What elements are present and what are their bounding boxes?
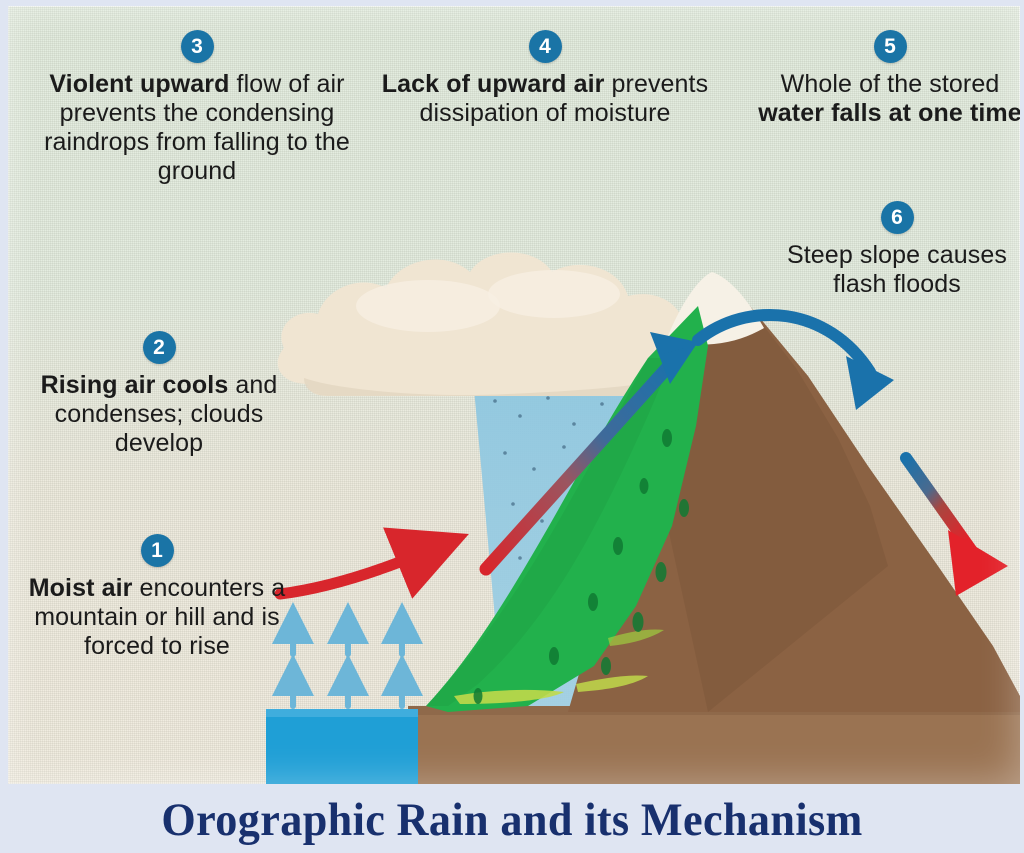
step-3-bold: Violent upward xyxy=(49,70,229,98)
step-1-text: Moist air encounters a mountain or hill … xyxy=(26,574,288,661)
step-5-note: 5 Whole of the stored water falls at one… xyxy=(746,30,1020,128)
step-3-badge: 3 xyxy=(181,30,214,63)
water-body xyxy=(266,709,418,784)
step-4-bold: Lack of upward air xyxy=(382,70,605,98)
ground-base xyxy=(408,706,1020,784)
step-3-text: Violent upward flow of air prevents the … xyxy=(32,70,362,186)
step-5-badge: 5 xyxy=(874,30,907,63)
infographic-root: 1 Moist air encounters a mountain or hil… xyxy=(0,0,1024,853)
step-4-note: 4 Lack of upward air prevents dissipatio… xyxy=(380,30,710,128)
step-2-note: 2 Rising air cools and condenses; clouds… xyxy=(16,331,302,458)
step-6-rest: Steep slope causes flash floods xyxy=(787,241,1007,298)
step-5-text: Whole of the stored water falls at one t… xyxy=(746,70,1020,128)
step-2-bold: Rising air cools xyxy=(41,371,229,399)
step-2-badge: 2 xyxy=(143,331,176,364)
step-1-bold: Moist air xyxy=(29,574,133,602)
step-6-badge: 6 xyxy=(881,201,914,234)
step-6-text: Steep slope causes flash floods xyxy=(768,241,1020,299)
step-4-badge: 4 xyxy=(529,30,562,63)
step-2-text: Rising air cools and condenses; clouds d… xyxy=(16,371,302,458)
caption-bar: Orographic Rain and its Mechanism xyxy=(0,786,1024,853)
step-5-bold: water falls at one time xyxy=(758,99,1020,127)
illustration-panel: 1 Moist air encounters a mountain or hil… xyxy=(8,6,1020,784)
step-5-rest: Whole of the stored xyxy=(781,70,1000,98)
step-1-badge: 1 xyxy=(141,534,174,567)
step-1-note: 1 Moist air encounters a mountain or hil… xyxy=(26,534,288,661)
evaporation-arrows xyxy=(293,626,402,706)
page-title: Orographic Rain and its Mechanism xyxy=(161,793,862,847)
step-3-note: 3 Violent upward flow of air prevents th… xyxy=(32,30,362,186)
step-4-text: Lack of upward air prevents dissipation … xyxy=(380,70,710,128)
moist-air-inflow-arrow xyxy=(280,554,420,594)
step-6-note: 6 Steep slope causes flash floods xyxy=(768,201,1020,299)
